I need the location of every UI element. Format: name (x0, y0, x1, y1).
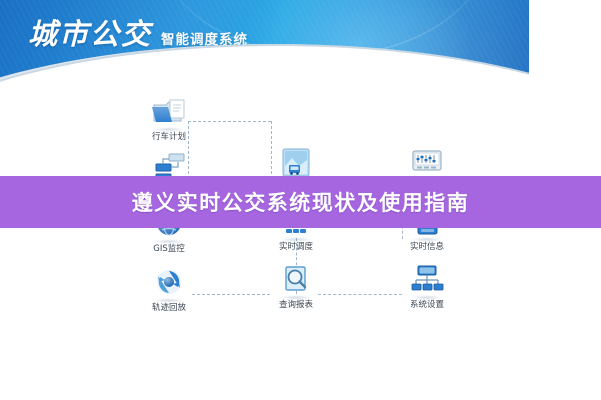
banner-header: 城市公交 智能调度系统 (0, 0, 529, 88)
module-node-track-playback[interactable]: 轨迹回放 (130, 265, 208, 313)
module-label: 系统设置 (410, 301, 444, 310)
server-tree-icon (407, 262, 447, 298)
module-node-driving-plan[interactable]: 行车计划 (130, 94, 208, 142)
refresh-cycle-icon (149, 265, 189, 301)
module-label: 实时信息 (410, 243, 444, 252)
article-title: 遵义实时公交系统现状及使用指南 (132, 187, 470, 217)
magnifier-report-icon (276, 262, 316, 298)
module-label: 轨迹回放 (152, 304, 186, 313)
screenshot-canvas: 城市公交 智能调度系统 (0, 0, 601, 400)
module-label: GIS监控 (153, 245, 185, 254)
module-label: 查询报表 (279, 301, 313, 310)
module-node-query-report[interactable]: 查询报表 (257, 262, 335, 310)
module-node-system-settings[interactable]: 系统设置 (388, 262, 466, 310)
article-title-overlay: 遵义实时公交系统现状及使用指南 (0, 176, 601, 228)
article-banner-image: 城市公交 智能调度系统 (0, 0, 529, 340)
module-label: 行车计划 (152, 133, 186, 142)
module-label: 实时调度 (279, 243, 313, 252)
folder-document-icon (149, 94, 189, 130)
brand-title: 城市公交 (28, 11, 152, 53)
